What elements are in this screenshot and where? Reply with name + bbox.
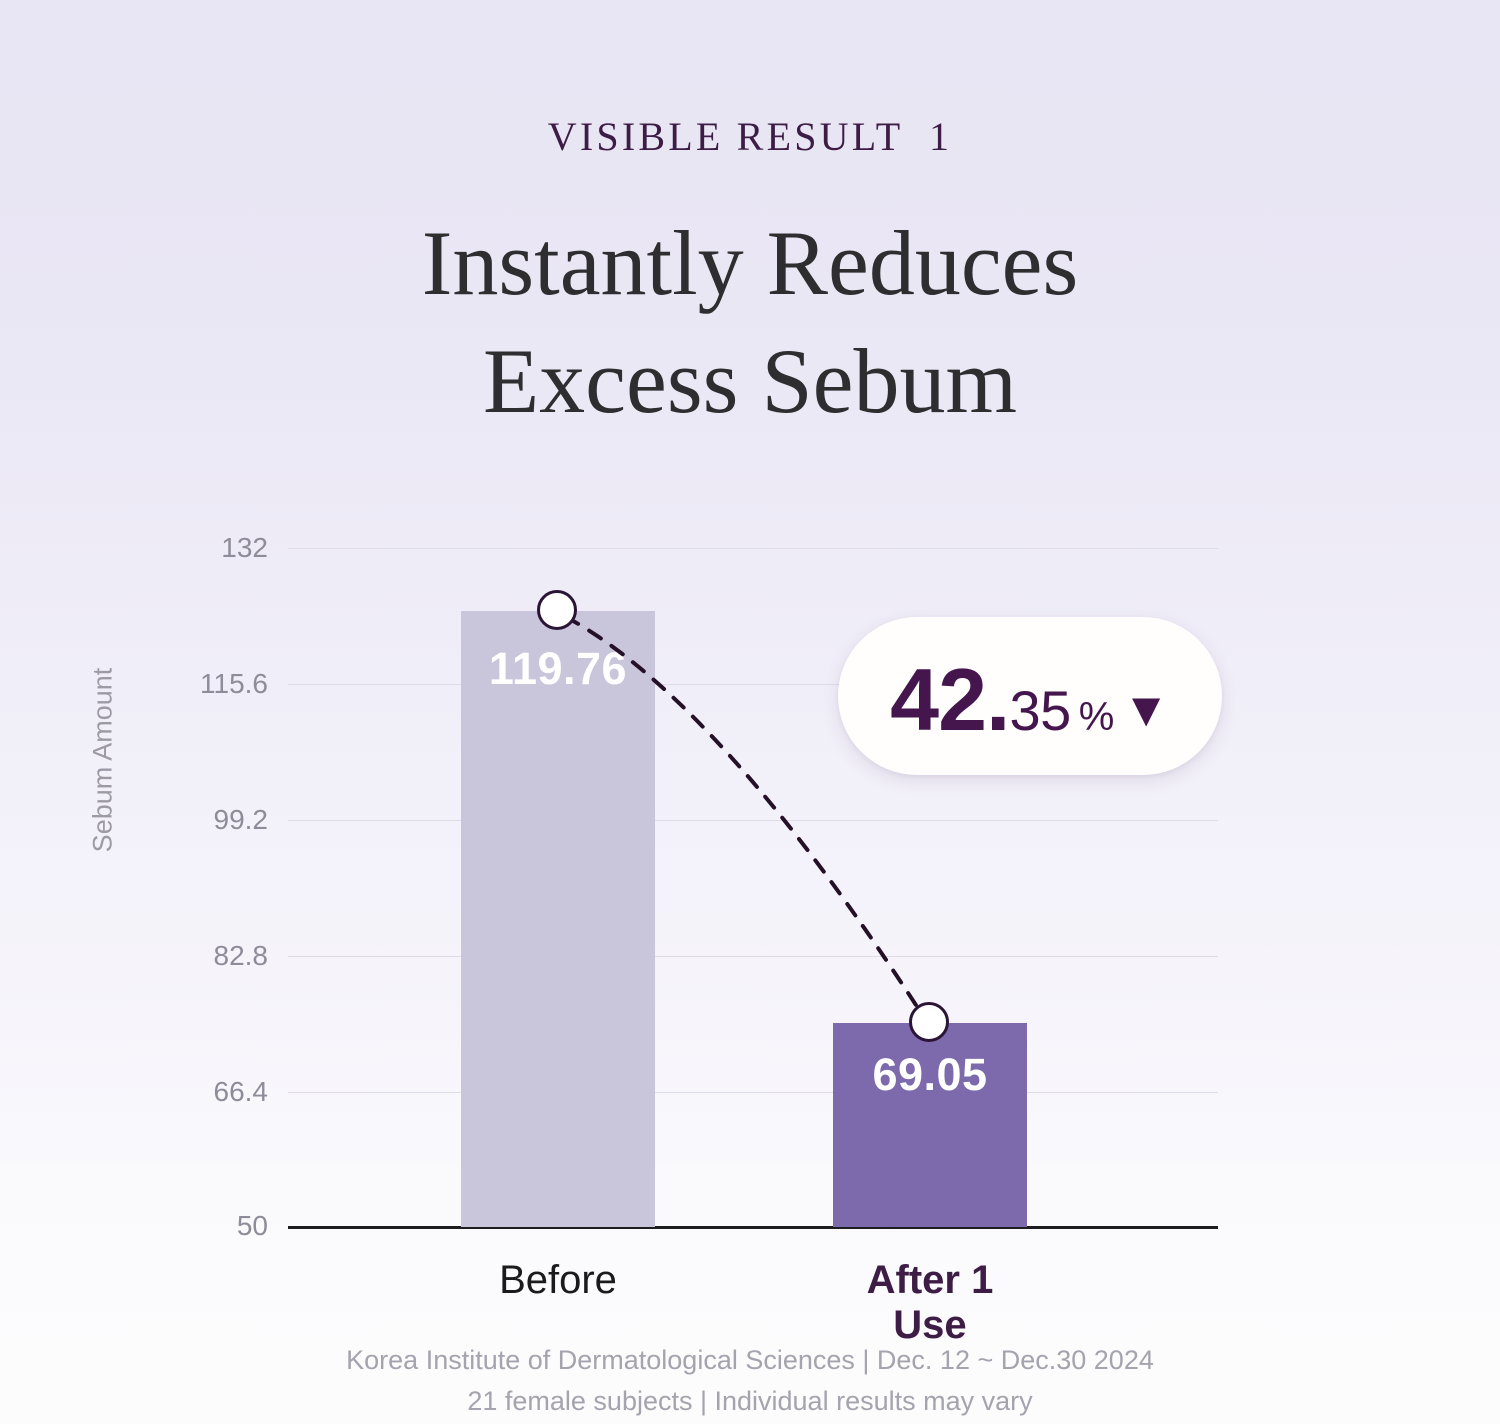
ytick-label-132: 132: [18, 532, 268, 564]
marker-after: [909, 1002, 949, 1042]
bar-value-after: 69.05: [833, 1049, 1027, 1101]
infographic-root: VISIBLE RESULT 1 Instantly Reduces Exces…: [0, 0, 1500, 1424]
footnote-line-2: 21 female subjects | Individual results …: [0, 1381, 1500, 1422]
ytick-label-82-8: 82.8: [18, 940, 268, 972]
gridline-99-2: [288, 820, 1218, 821]
ytick-label-99-2: 99.2: [18, 804, 268, 836]
ytick-label-66-4: 66.4: [18, 1076, 268, 1108]
reduction-fraction: 35: [1009, 683, 1070, 739]
bar-after-one-use: 69.05: [833, 1023, 1027, 1227]
bar-before: 119.76: [461, 611, 655, 1227]
marker-before: [537, 590, 577, 630]
axis-baseline: [288, 1226, 1218, 1229]
bar-value-before: 119.76: [461, 643, 655, 695]
ytick-label-50: 50: [18, 1210, 268, 1242]
percent-symbol: %: [1079, 697, 1115, 737]
decrease-arrow-icon: ▼: [1122, 687, 1170, 735]
reduction-badge: 42. 35 % ▼: [838, 617, 1222, 775]
reduction-badge-content: 42. 35 % ▼: [890, 656, 1170, 744]
xlabel-before: Before: [461, 1258, 655, 1303]
y-axis-title: Sebum Amount: [88, 630, 119, 890]
sebum-bar-chart: 132 115.6 99.2 82.8 66.4 50 Sebum Amount…: [0, 0, 1500, 1424]
gridline-132: [288, 548, 1218, 549]
xlabel-after-one-use: After 1 Use: [833, 1258, 1027, 1348]
gridline-66-4: [288, 1092, 1218, 1093]
footnote-line-1: Korea Institute of Dermatological Scienc…: [0, 1340, 1500, 1381]
reduction-integer: 42.: [890, 656, 1009, 744]
gridline-82-8: [288, 956, 1218, 957]
ytick-label-115-6: 115.6: [18, 668, 268, 700]
